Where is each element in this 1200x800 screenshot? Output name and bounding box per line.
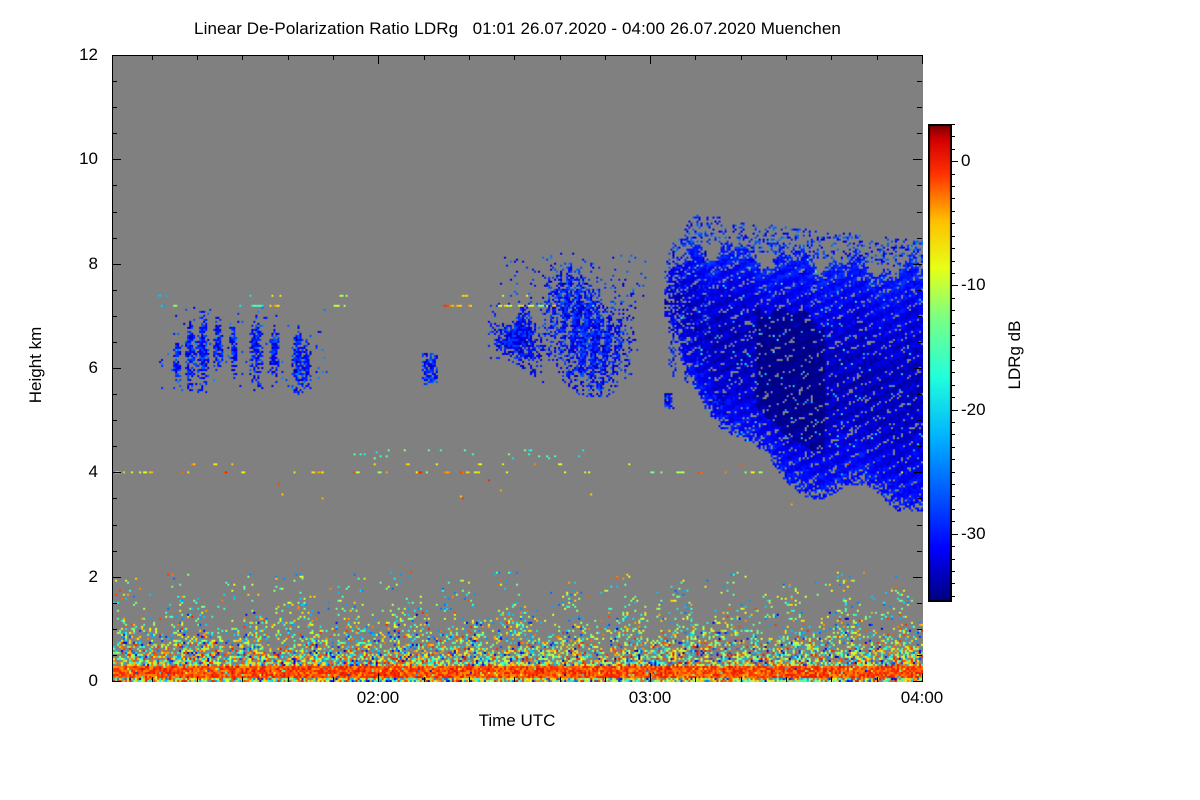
y-axis-tick-label: 12 <box>38 46 98 63</box>
colorbar-tick-minor <box>952 459 955 460</box>
colorbar-tick-minor <box>952 372 955 373</box>
x-axis-tick-top <box>424 55 425 60</box>
figure-canvas: Linear De-Polarization Ratio LDRg 01:01 … <box>0 0 1200 800</box>
x-axis-tick-minor <box>695 677 696 682</box>
y-axis-tick-minor <box>112 525 117 526</box>
x-axis-tick-top <box>197 55 198 60</box>
y-axis-tick-minor <box>112 551 117 552</box>
x-axis-tick-top <box>695 55 696 60</box>
x-axis-tick-minor <box>786 677 787 682</box>
page-title: Linear De-Polarization Ratio LDRg 01:01 … <box>0 19 1035 39</box>
x-axis-tick-minor <box>242 677 243 682</box>
colorbar-tick-minor <box>952 397 955 398</box>
colorbar-tick-minor <box>952 472 955 473</box>
y-axis-tick-minor <box>112 342 117 343</box>
y-axis-tick-right <box>917 238 922 239</box>
colorbar-tick-minor <box>952 521 955 522</box>
x-axis-tick-top <box>560 55 561 60</box>
y-axis-tick-minor <box>112 420 117 421</box>
y-axis-tick-right <box>917 420 922 421</box>
x-axis-tick-label: 03:00 <box>605 689 695 706</box>
y-axis-tick-minor <box>112 446 117 447</box>
y-axis-tick-major <box>112 159 121 160</box>
y-axis-tick-major <box>112 472 121 473</box>
x-axis-tick-major <box>378 673 379 682</box>
y-axis-tick-minor <box>112 185 117 186</box>
y-axis-tick-right <box>917 446 922 447</box>
colorbar-tick-minor <box>952 484 955 485</box>
y-axis-tick-right <box>917 603 922 604</box>
y-axis-tick-right <box>913 55 922 56</box>
y-axis-tick-minor <box>112 81 117 82</box>
x-axis-tick-major <box>650 673 651 682</box>
x-axis-tick-minor <box>831 677 832 682</box>
y-axis-tick-right <box>913 159 922 160</box>
y-axis-tick-right <box>917 551 922 552</box>
colorbar-tick-minor <box>952 248 955 249</box>
y-axis-tick-major <box>112 368 121 369</box>
y-axis-tick-minor <box>112 133 117 134</box>
y-axis-tick-major <box>112 264 121 265</box>
y-axis-tick-minor <box>112 498 117 499</box>
x-axis-tick-minor <box>877 677 878 682</box>
y-axis-tick-right <box>917 655 922 656</box>
x-axis-tick-minor <box>197 677 198 682</box>
x-axis-tick-top <box>378 55 379 64</box>
colorbar-tick-minor <box>952 509 955 510</box>
y-axis-tick-right <box>917 81 922 82</box>
colorbar-tick-minor <box>952 310 955 311</box>
x-axis-tick-minor <box>333 677 334 682</box>
x-axis-tick-minor <box>605 677 606 682</box>
colorbar-tick-minor <box>952 149 955 150</box>
colorbar-tick-minor <box>952 496 955 497</box>
y-axis-tick-label: 10 <box>38 150 98 167</box>
y-axis-tick-right <box>917 290 922 291</box>
y-axis-tick-minor <box>112 290 117 291</box>
x-axis-tick-top <box>650 55 651 64</box>
y-axis-tick-label: 0 <box>38 672 98 689</box>
colorbar-tick-minor <box>952 211 955 212</box>
x-axis-tick-top <box>877 55 878 60</box>
x-axis-tick-minor <box>152 677 153 682</box>
colorbar-tick-major <box>952 161 958 162</box>
colorbar-tick-minor <box>952 261 955 262</box>
colorbar-tick-minor <box>952 571 955 572</box>
colorbar-tick-minor <box>952 323 955 324</box>
colorbar-tick-minor <box>952 335 955 336</box>
x-axis-tick-minor <box>741 677 742 682</box>
colorbar-tick-minor <box>952 360 955 361</box>
x-axis-tick-top <box>786 55 787 60</box>
x-axis-tick-major <box>922 673 923 682</box>
x-axis-tick-top <box>152 55 153 60</box>
y-axis-tick-right <box>917 212 922 213</box>
colorbar-gradient <box>928 124 952 602</box>
heatmap-data-layer[interactable] <box>113 56 923 682</box>
colorbar-tick-minor <box>952 385 955 386</box>
y-axis-tick-label: 6 <box>38 359 98 376</box>
colorbar-tick-minor <box>952 298 955 299</box>
y-axis-tick-minor <box>112 603 117 604</box>
y-axis-tick-minor <box>112 107 117 108</box>
y-axis-tick-label: 2 <box>38 568 98 585</box>
colorbar-tick-major <box>952 534 958 535</box>
colorbar-tick-major <box>952 410 958 411</box>
y-axis-tick-right <box>917 498 922 499</box>
y-axis-tick-right <box>917 316 922 317</box>
y-axis-tick-right <box>917 342 922 343</box>
y-axis-tick-label: 4 <box>38 463 98 480</box>
colorbar-tick-minor <box>952 198 955 199</box>
colorbar-tick-minor <box>952 124 955 125</box>
colorbar-tick-major <box>952 285 958 286</box>
colorbar-tick-minor <box>952 596 955 597</box>
x-axis-tick-minor <box>560 677 561 682</box>
colorbar-tick-minor <box>952 174 955 175</box>
colorbar-tick-minor <box>952 559 955 560</box>
colorbar-tick-minor <box>952 186 955 187</box>
y-axis-tick-right <box>917 107 922 108</box>
colorbar-tick-minor <box>952 583 955 584</box>
colorbar-tick-minor <box>952 273 955 274</box>
y-axis-tick-major <box>112 577 121 578</box>
y-axis-tick-minor <box>112 212 117 213</box>
colorbar[interactable] <box>928 124 952 602</box>
y-axis-tick-right <box>913 681 922 682</box>
x-axis-title: Time UTC <box>112 711 922 731</box>
x-axis-tick-top <box>288 55 289 60</box>
x-axis-tick-minor <box>288 677 289 682</box>
x-axis-tick-top <box>831 55 832 60</box>
x-axis-tick-top <box>242 55 243 60</box>
colorbar-tick-minor <box>952 422 955 423</box>
y-axis-tick-right <box>913 472 922 473</box>
y-axis-tick-minor <box>112 394 117 395</box>
y-axis-tick-right <box>917 133 922 134</box>
y-axis-tick-right <box>917 525 922 526</box>
y-axis-tick-minor <box>112 238 117 239</box>
y-axis-tick-minor <box>112 316 117 317</box>
colorbar-tick-minor <box>952 136 955 137</box>
y-axis-tick-major <box>112 55 121 56</box>
y-axis-tick-minor <box>112 655 117 656</box>
y-axis-tick-major <box>112 681 121 682</box>
y-axis-tick-label: 8 <box>38 255 98 272</box>
x-axis-tick-top <box>469 55 470 60</box>
y-axis-tick-right <box>913 264 922 265</box>
x-axis-tick-top <box>605 55 606 60</box>
y-axis-tick-right <box>917 185 922 186</box>
colorbar-tick-label: 0 <box>961 152 1021 169</box>
colorbar-tick-minor <box>952 347 955 348</box>
plot-area[interactable] <box>112 55 922 681</box>
colorbar-tick-label: -10 <box>961 276 1021 293</box>
y-axis-tick-right <box>917 394 922 395</box>
colorbar-tick-label: -20 <box>961 401 1021 418</box>
colorbar-tick-minor <box>952 447 955 448</box>
y-axis-tick-minor <box>112 629 117 630</box>
x-axis-tick-minor <box>424 677 425 682</box>
x-axis-tick-top <box>741 55 742 60</box>
x-axis-tick-label: 04:00 <box>877 689 967 706</box>
colorbar-tick-minor <box>952 434 955 435</box>
colorbar-tick-minor <box>952 236 955 237</box>
y-axis-tick-right <box>913 368 922 369</box>
x-axis-tick-top <box>922 55 923 64</box>
colorbar-tick-minor <box>952 223 955 224</box>
y-axis-tick-right <box>917 629 922 630</box>
colorbar-tick-minor <box>952 546 955 547</box>
x-axis-tick-top <box>514 55 515 60</box>
x-axis-tick-minor <box>514 677 515 682</box>
x-axis-tick-minor <box>469 677 470 682</box>
y-axis-tick-right <box>913 577 922 578</box>
colorbar-tick-label: -30 <box>961 525 1021 542</box>
x-axis-tick-label: 02:00 <box>333 689 423 706</box>
x-axis-tick-top <box>333 55 334 60</box>
